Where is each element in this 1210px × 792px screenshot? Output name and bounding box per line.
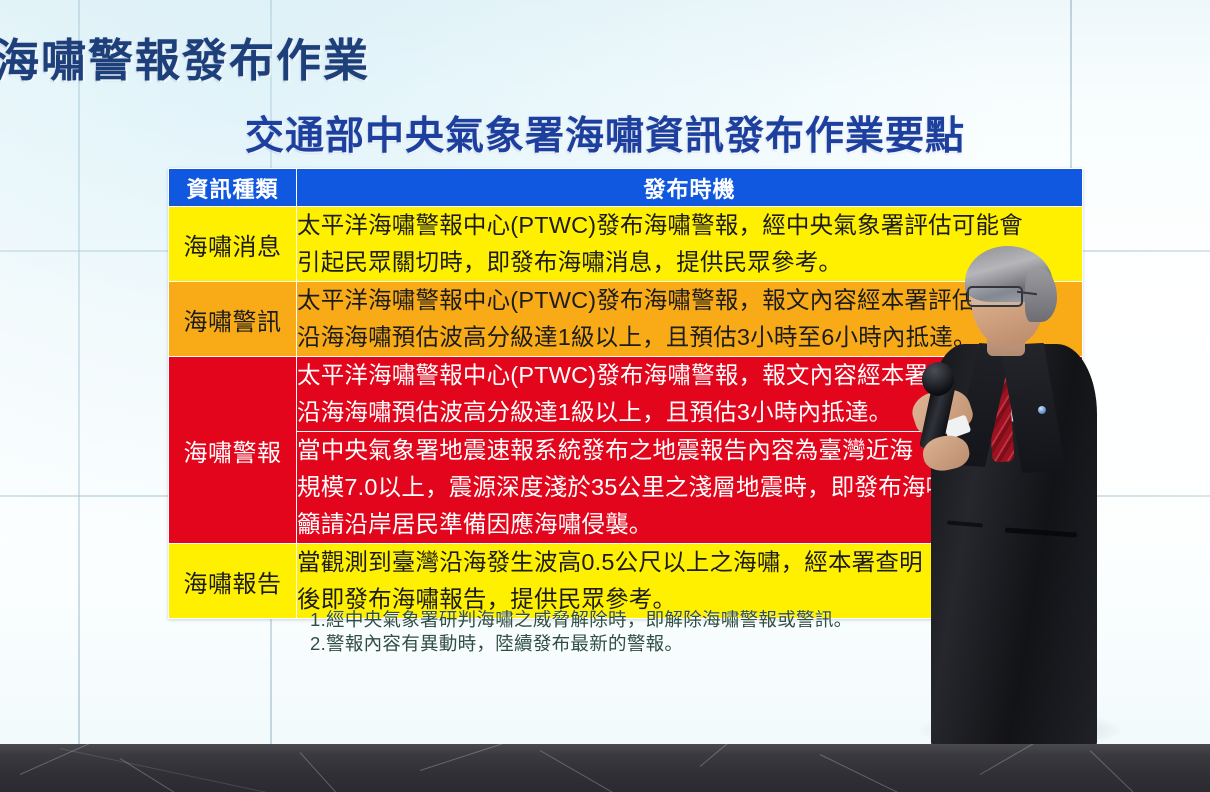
row-line: 太平洋海嘯警報中心(PTWC)發布海嘯警報，經中央氣象署評估可能會 xyxy=(297,207,1082,244)
broadcast-screenshot: 海嘯警報發布作業 交通部中央氣象署海嘯資訊發布作業要點 資訊種類 發布時機 海嘯… xyxy=(0,0,1210,792)
presenter xyxy=(905,240,1140,748)
presenter-lapel-pin xyxy=(1038,406,1046,414)
overlay-title: 海嘯警報發布作業 xyxy=(0,24,370,89)
presenter-glasses xyxy=(967,286,1023,307)
table-header-row: 資訊種類 發布時機 xyxy=(169,169,1083,207)
column-header-issue-timing: 發布時機 xyxy=(297,169,1083,207)
row-type-tsunami-warning: 海嘯警報 xyxy=(169,357,297,544)
row-type-tsunami-report: 海嘯報告 xyxy=(169,544,297,619)
presenter-hair-back xyxy=(1025,268,1057,322)
footnote-2: 2.警報內容有異動時，陸續發布最新的警報。 xyxy=(310,632,852,656)
row-type-tsunami-news: 海嘯消息 xyxy=(169,207,297,282)
slide-footnotes: 1.經中央氣象署研判海嘯之威脅解除時，即解除海嘯警報或警訊。 2.警報內容有異動… xyxy=(310,608,852,656)
footnote-1: 1.經中央氣象署研判海嘯之威脅解除時，即解除海嘯警報或警訊。 xyxy=(310,608,852,632)
row-type-tsunami-advisory: 海嘯警訊 xyxy=(169,282,297,357)
slide-title: 交通部中央氣象署海嘯資訊發布作業要點 xyxy=(0,105,1210,161)
studio-floor xyxy=(0,744,1210,792)
column-header-information-type: 資訊種類 xyxy=(169,169,297,207)
